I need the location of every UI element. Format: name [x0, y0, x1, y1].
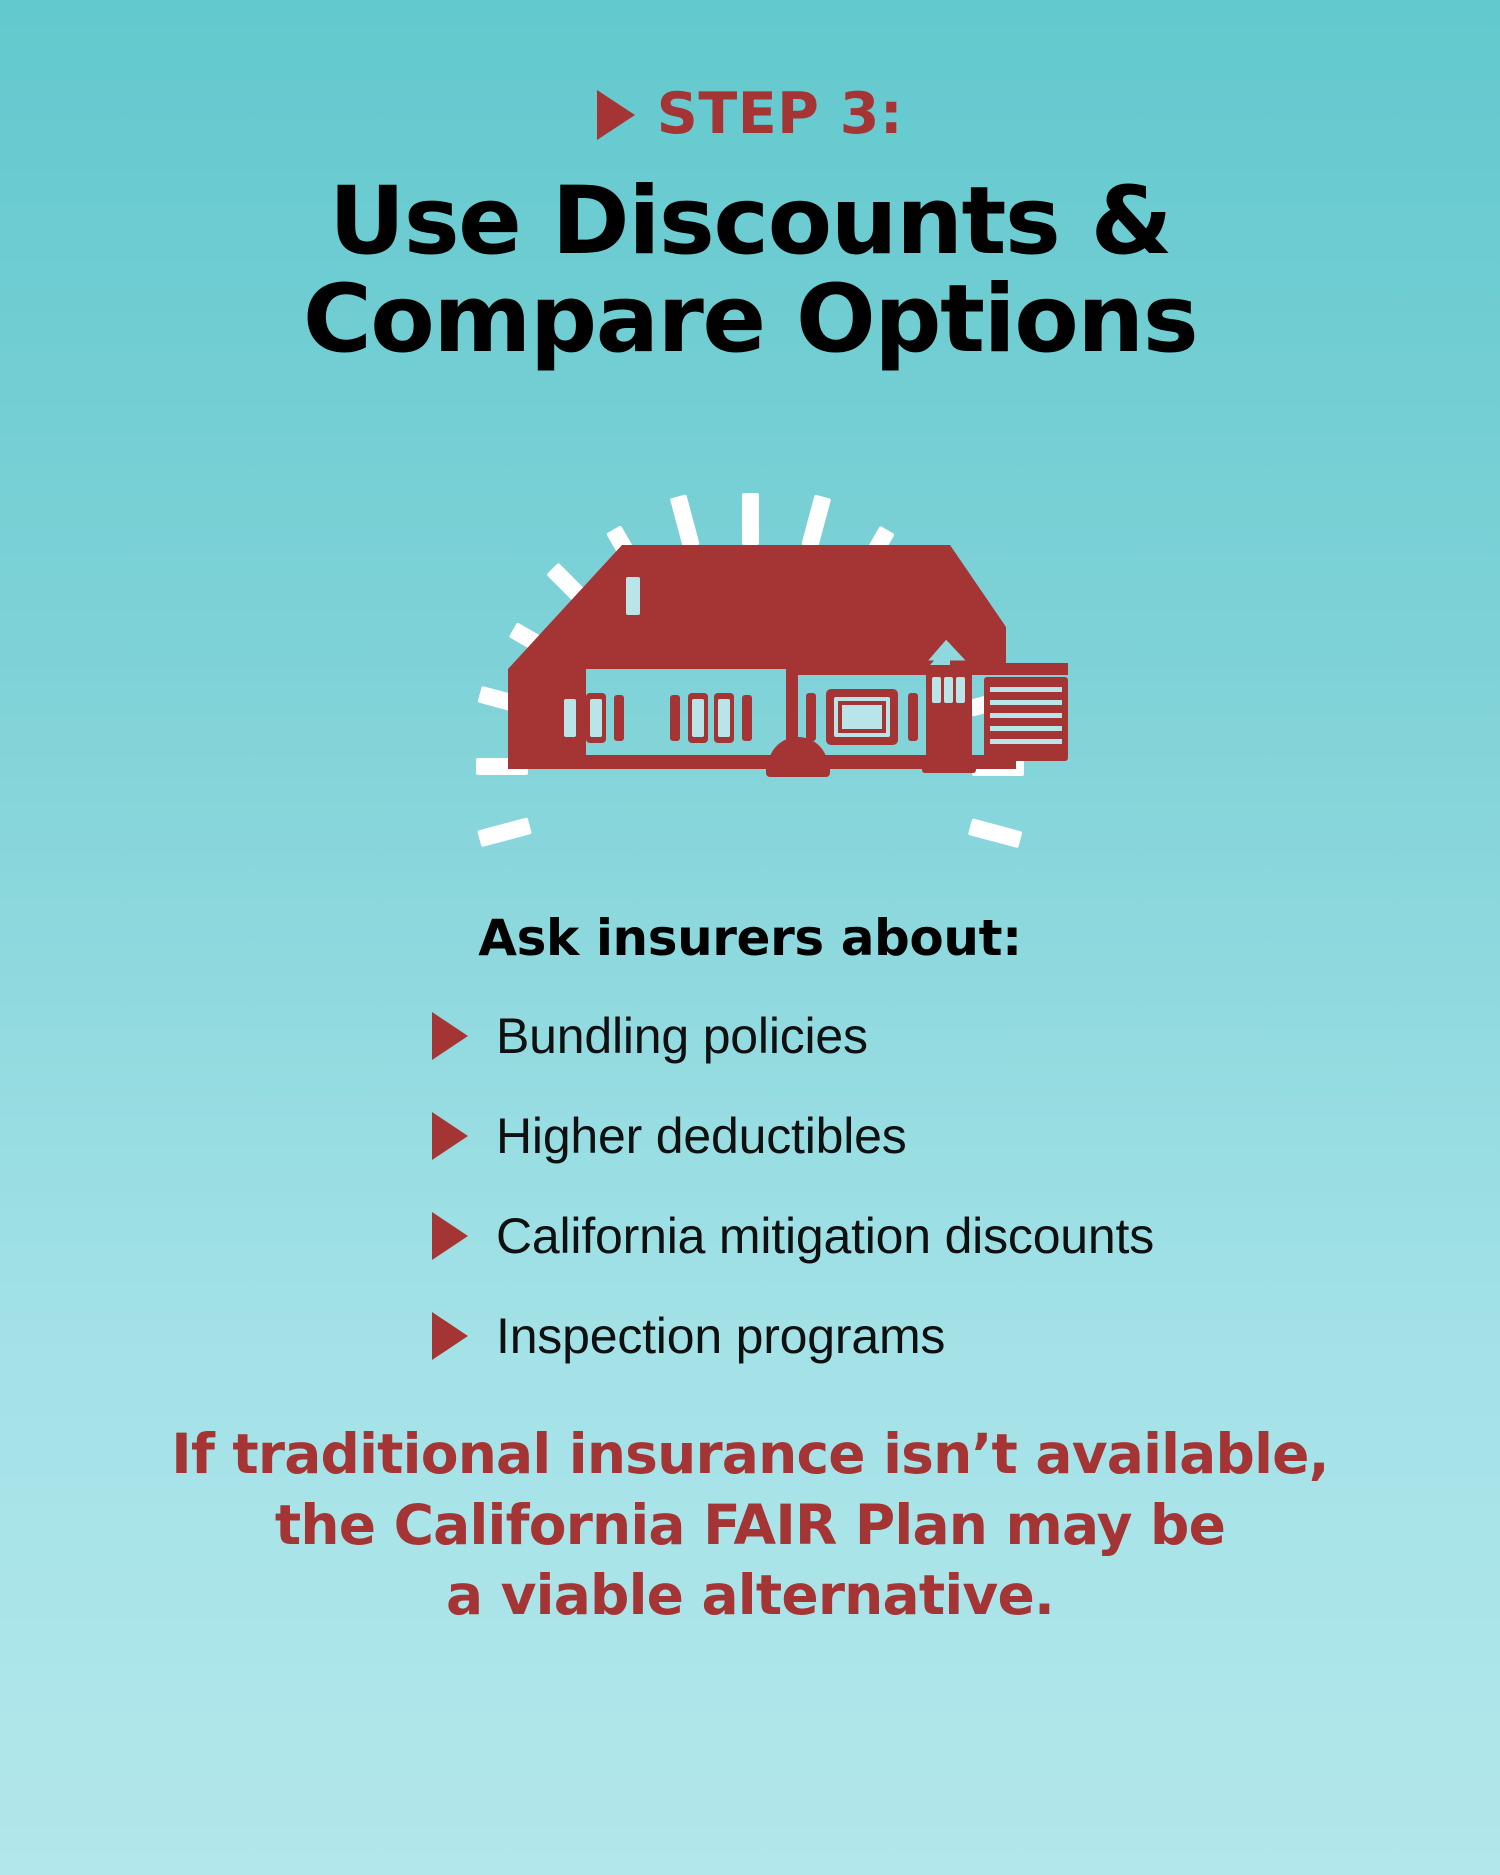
list-item-label: Inspection programs	[496, 1311, 945, 1361]
play-triangle-icon	[597, 90, 635, 140]
list-item: California mitigation discounts	[432, 1211, 1340, 1261]
discount-list: Bundling policies Higher deductibles Cal…	[160, 1011, 1340, 1361]
page-title: Use Discounts & Compare Options	[160, 173, 1340, 369]
list-item-label: Bundling policies	[496, 1011, 868, 1061]
infographic-poster: STEP 3: Use Discounts & Compare Options	[0, 0, 1500, 1875]
step-label: STEP 3:	[657, 86, 903, 143]
garage-door	[984, 677, 1068, 761]
play-triangle-icon	[432, 1012, 468, 1060]
play-triangle-icon	[432, 1112, 468, 1160]
picture-window	[806, 689, 918, 745]
footer-callout: If traditional insurance isn’t available…	[130, 1419, 1370, 1630]
shining-house-illustration	[390, 467, 1110, 867]
list-item: Higher deductibles	[432, 1111, 1340, 1161]
play-triangle-icon	[432, 1312, 468, 1360]
list-item: Bundling policies	[432, 1011, 1340, 1061]
list-heading: Ask insurers about:	[478, 909, 1021, 967]
page-title-line1: Use Discounts &	[329, 167, 1171, 276]
list-item-label: Higher deductibles	[496, 1111, 907, 1161]
step-eyebrow: STEP 3:	[597, 86, 903, 143]
footer-callout-line1: If traditional insurance isn’t available…	[130, 1419, 1370, 1489]
play-triangle-icon	[432, 1212, 468, 1260]
right-windows	[670, 693, 752, 743]
front-door	[922, 667, 976, 773]
attic-vent-window	[604, 571, 662, 621]
footer-callout-line3: a viable alternative.	[130, 1560, 1370, 1630]
footer-callout-line2: the California FAIR Plan may be	[130, 1490, 1370, 1560]
shrub	[766, 737, 830, 777]
list-item-label: California mitigation discounts	[496, 1211, 1154, 1261]
list-item: Inspection programs	[432, 1311, 1340, 1361]
page-title-line2: Compare Options	[160, 271, 1340, 369]
house-icon	[508, 545, 1068, 777]
